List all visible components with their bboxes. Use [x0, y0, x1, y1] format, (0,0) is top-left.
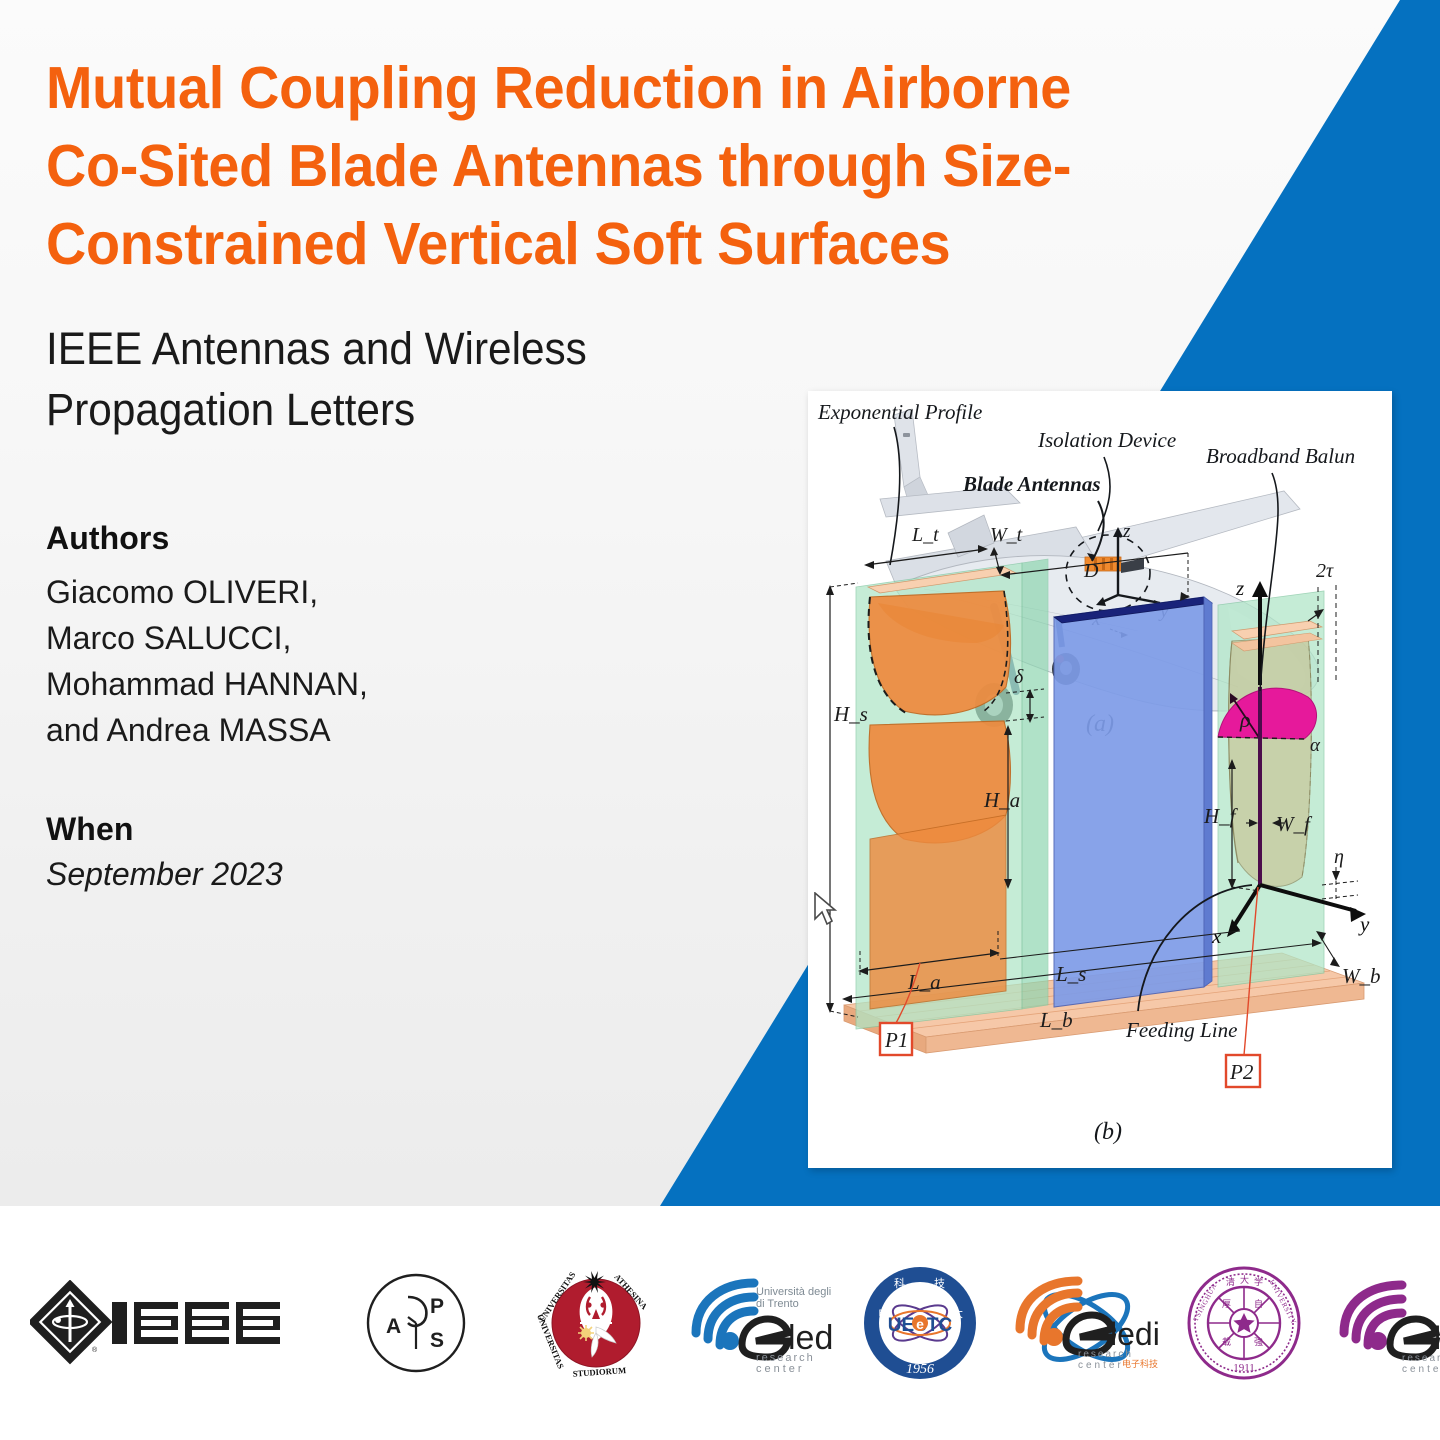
svg-text:Università degli Studi: Università degli Studi — [756, 1286, 834, 1298]
eledia-uestc-logo: ledia research center 电子科技大学 — [1006, 1271, 1158, 1375]
svg-text:®: ® — [92, 1346, 98, 1354]
svg-text:center: center — [1402, 1364, 1440, 1375]
D-label: D — [1083, 560, 1099, 582]
svg-text:自: 自 — [1254, 1298, 1263, 1309]
svg-text:S: S — [430, 1329, 444, 1352]
tsinghua-university-seal: 厚 自 载 強 清 大 学 TSINGHUA UNIVERSITY 1911 — [1182, 1261, 1306, 1385]
alpha-label: α — [1310, 735, 1321, 756]
Wf-label: W_f — [1276, 812, 1313, 836]
axis-y-label-b: y — [1358, 912, 1370, 936]
exponential-profile-annotation: Exponential Profile — [817, 400, 982, 424]
Wt-label: W_t — [990, 524, 1023, 546]
Lb-label: L_b — [1039, 1008, 1073, 1032]
uestc-logo: 科 技 电 大 UESTC e 1956 — [858, 1261, 982, 1385]
feeding-line-annotation: Feeding Line — [1125, 1018, 1237, 1042]
2tau-label: 2τ — [1316, 560, 1334, 582]
svg-text:厚: 厚 — [1222, 1299, 1231, 1309]
svg-text:清: 清 — [1226, 1276, 1235, 1287]
broadband-balun-annotation: Broadband Balun — [1206, 444, 1355, 468]
svg-text:学: 学 — [1254, 1276, 1263, 1287]
svg-text:e: e — [916, 1316, 924, 1332]
port-p1-label: P1 — [884, 1028, 908, 1052]
delta-label: δ — [1014, 666, 1024, 688]
svg-text:ledia: ledia — [1434, 1320, 1440, 1356]
uestc-year: 1956 — [906, 1362, 934, 1377]
svg-text:大: 大 — [952, 1306, 963, 1320]
ieee-logo: ® — [30, 1280, 320, 1366]
axis-x-label-b: x — [1211, 924, 1222, 948]
tsinghua-year: 1911 — [1233, 1362, 1255, 1374]
svg-text:center: center — [1078, 1360, 1124, 1371]
antenna-figure: Blade Antennas z y x (a) — [808, 391, 1392, 1168]
isolation-device-annotation: Isolation Device — [1037, 428, 1176, 452]
svg-text:电子科技大学: 电子科技大学 — [1122, 1358, 1158, 1369]
axis-z-label-b: z — [1235, 576, 1244, 600]
svg-text:ledia: ledia — [1110, 1316, 1158, 1352]
svg-text:载: 载 — [1222, 1336, 1231, 1347]
svg-text:A: A — [386, 1315, 401, 1338]
svg-text:di Trento: di Trento — [756, 1298, 799, 1310]
Hf-label: H_f — [1203, 804, 1239, 828]
page-title: Mutual Coupling Reduction in Airborne Co… — [46, 50, 1156, 284]
svg-text:大: 大 — [1240, 1274, 1249, 1285]
Lt-label: L_t — [911, 524, 939, 546]
ieee-aps-logo: A P S — [364, 1271, 468, 1375]
port-p2-label: P2 — [1229, 1060, 1254, 1084]
svg-text:research: research — [1402, 1353, 1440, 1364]
figure-card: Blade Antennas z y x (a) — [808, 391, 1392, 1168]
svg-text:P: P — [430, 1295, 444, 1318]
svg-text:技: 技 — [934, 1277, 945, 1290]
blade-antennas-annotation: Blade Antennas — [962, 472, 1101, 496]
rho-label: ρ — [1239, 707, 1251, 732]
axis-z-label-a: z — [1122, 521, 1131, 542]
eta-label: η — [1334, 846, 1344, 868]
poster-root: Mutual Coupling Reduction in Airborne Co… — [0, 0, 1440, 1440]
svg-text:科: 科 — [894, 1276, 905, 1290]
eledia-tsinghua-logo: ledia research center — [1330, 1271, 1440, 1375]
footer-logo-bar: ® — [0, 1206, 1440, 1440]
Wb-label: W_b — [1342, 964, 1381, 988]
La-label: L_a — [907, 970, 941, 994]
ieee-wordmark — [112, 1302, 280, 1344]
Ha-label: H_a — [983, 788, 1020, 812]
svg-text:強: 強 — [1254, 1336, 1263, 1347]
panel-b-caption: (b) — [1094, 1119, 1122, 1145]
Hs-label: H_s — [833, 702, 868, 726]
svg-text:center: center — [756, 1363, 805, 1375]
journal-name: IEEE Antennas and Wireless Propagation L… — [46, 318, 723, 440]
university-of-trento-seal: UNIVERSITAS ATHESINA STUDIORUM UNIVERSIT… — [534, 1261, 658, 1385]
eledia-trento-logo: Università degli Studi di Trento ledia r… — [682, 1271, 834, 1375]
